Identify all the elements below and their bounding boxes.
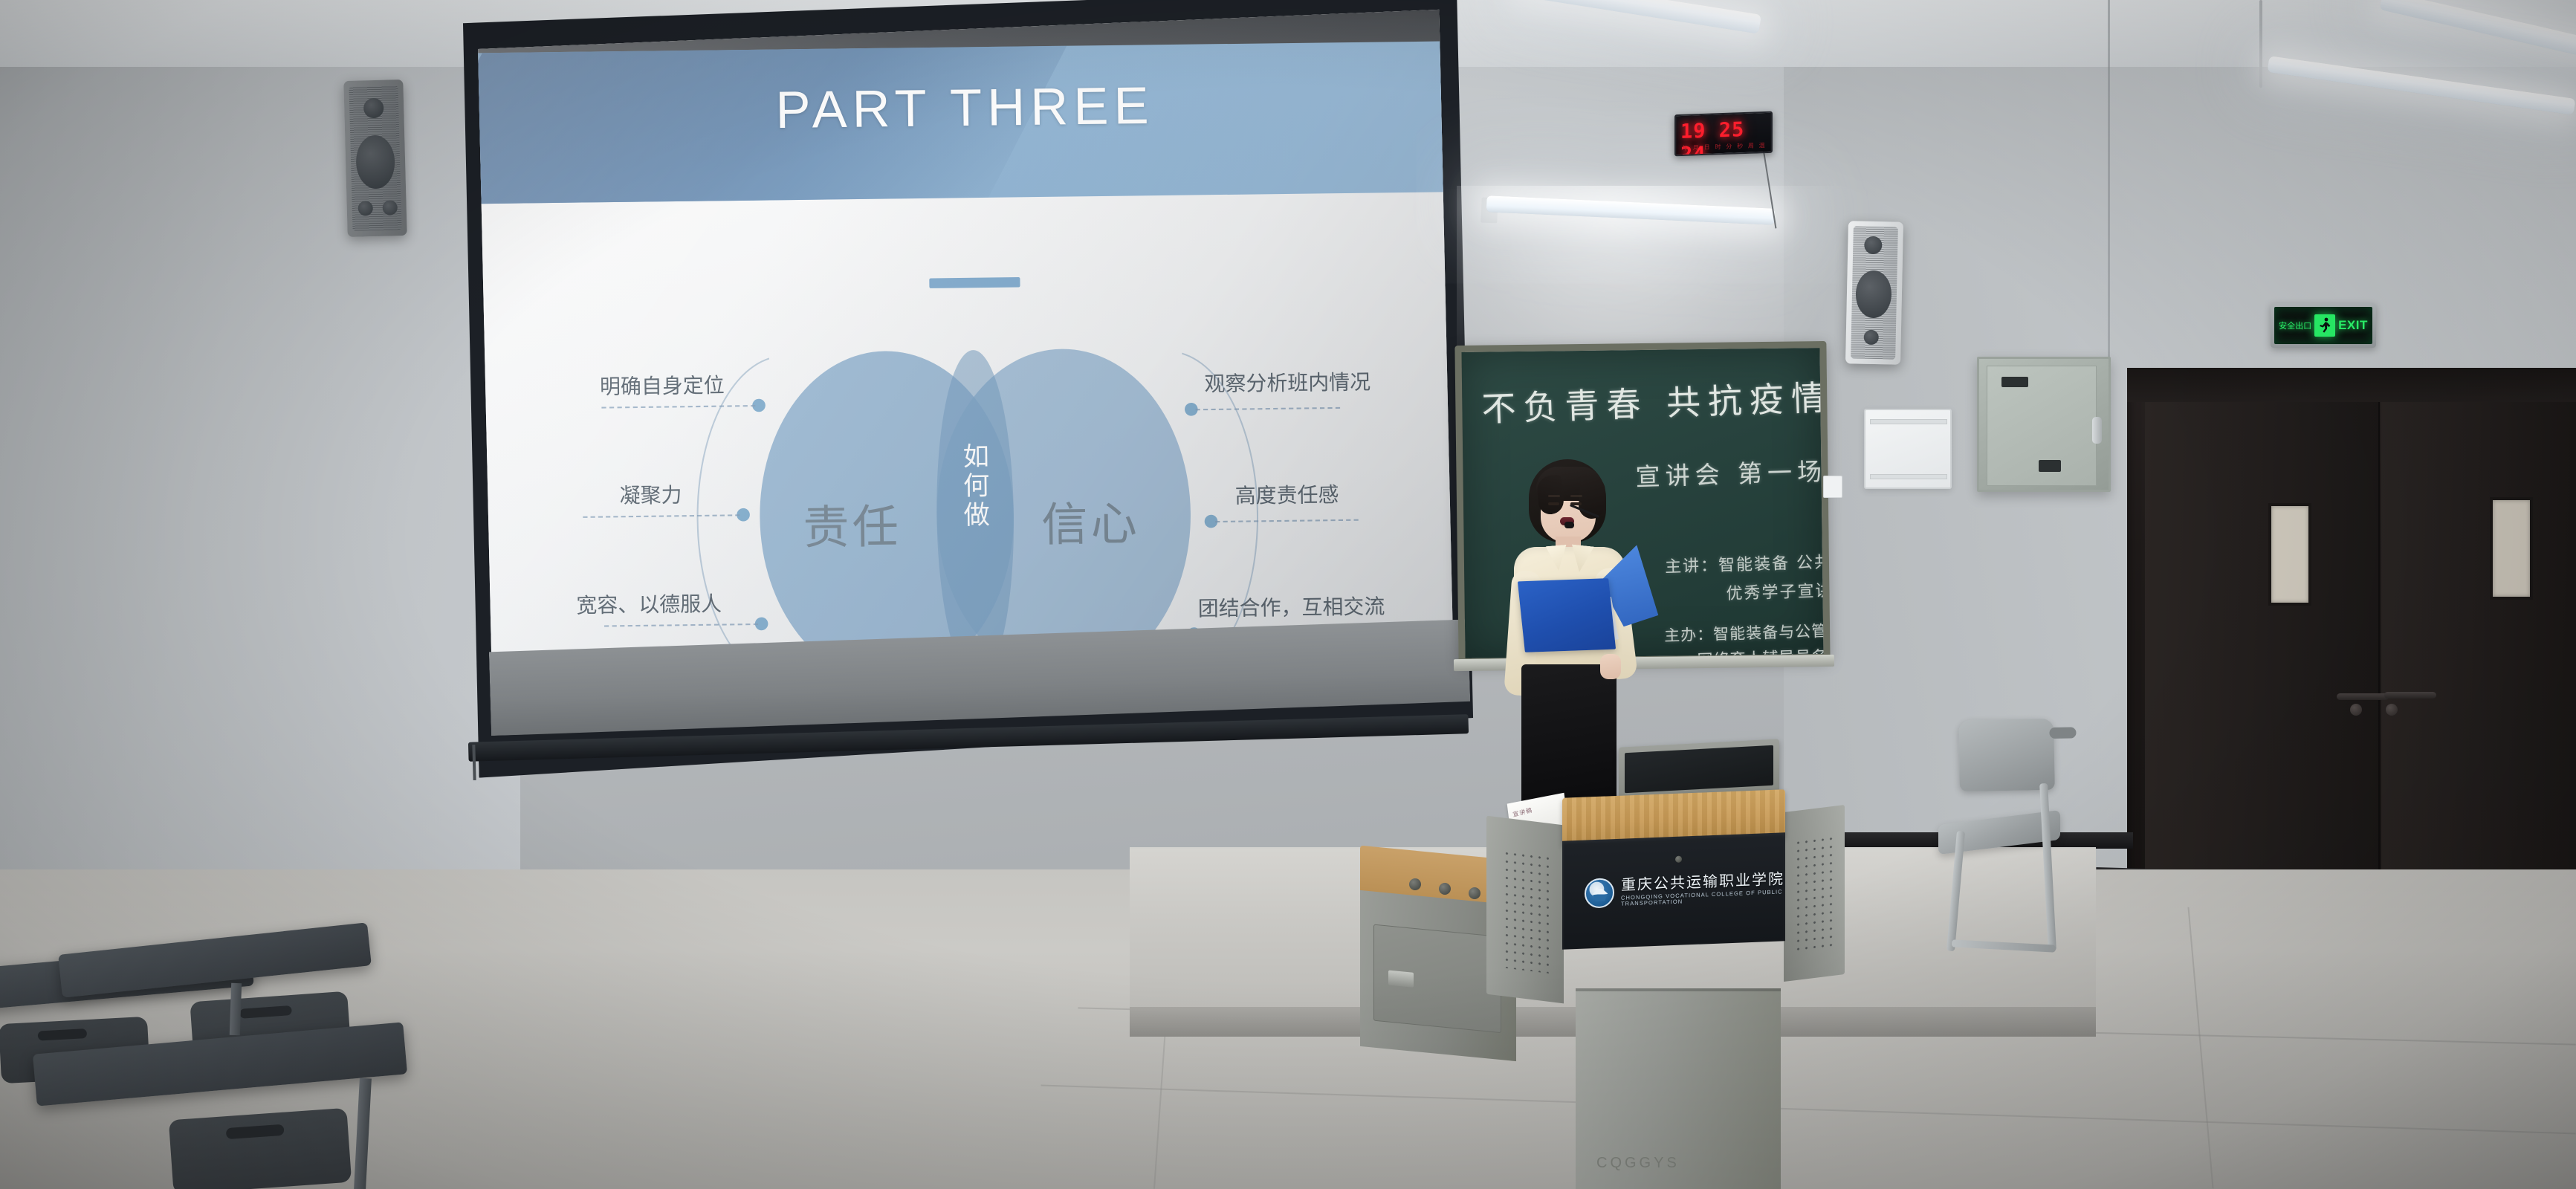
college-seal-icon (1585, 878, 1614, 909)
chair-handle-cutout (2049, 727, 2076, 739)
exit-sign-english: EXIT (2338, 318, 2368, 333)
blue-folder (1518, 578, 1616, 652)
wall-corner-seam (2108, 0, 2110, 386)
callout-label-right-2: 高度责任感 (1234, 478, 1339, 509)
door-lock-right[interactable] (2386, 704, 2398, 716)
podium-card-label: 宣讲稿 (1512, 806, 1533, 819)
door-leaf-right[interactable] (2381, 402, 2576, 888)
podium-left-column (1486, 816, 1564, 1004)
callout-label-left-3: 宽容、以德服人 (576, 587, 722, 619)
podium-knob-1[interactable] (1409, 878, 1421, 890)
door-window-right (2490, 497, 2533, 600)
power-outlet[interactable] (1823, 476, 1842, 498)
classroom-scene: PART THREE 责任 信心 如何做 明确自身定位 (0, 0, 2576, 1189)
podium-knob-3[interactable] (1469, 887, 1480, 899)
student-desk-leg-1 (354, 1078, 372, 1189)
podium-right-column (1784, 805, 1845, 982)
student-desk-leg-2 (230, 983, 242, 1035)
wall-speaker-left (343, 80, 407, 237)
chair-grip-3 (226, 1124, 285, 1139)
door-handle-left[interactable] (2337, 693, 2389, 700)
led-wall-clock: 19 25 24 年 月 日 时 分 秒 周 温度 (1674, 111, 1773, 157)
wall-speaker-right (1845, 221, 1903, 365)
blackboard-organizer-line-1: 主办：智能装备与公管联合学工办 (1664, 617, 1831, 647)
running-man-icon (2314, 314, 2335, 337)
panel-slot-top (1870, 419, 1947, 424)
callout-label-left-2: 凝聚力 (619, 479, 682, 509)
podium-front-panel: 重庆公共运输职业学院 CHONGQING VOCATIONAL COLLEGE … (1562, 832, 1785, 950)
venn-label-left: 责任 (803, 490, 902, 558)
slide-section-title: PART THREE (472, 72, 1465, 144)
chair-leg-rail (1952, 939, 2056, 952)
podium-speaker-grille-left (1503, 849, 1549, 973)
slide-divider-dash (929, 277, 1020, 288)
podium-base-marking: CQGGYS (1596, 1155, 1680, 1172)
podium-card-slot[interactable] (1388, 971, 1414, 988)
presenter-eye-left (1548, 502, 1559, 505)
foreground-student-desks (0, 933, 639, 1189)
exit-sign: 安全出口 EXIT (2271, 303, 2376, 348)
chair-grip-2 (239, 1005, 292, 1019)
spare-chair[interactable] (1925, 719, 2088, 957)
cabinet-vent-bottom (2039, 460, 2061, 472)
door-header (2127, 368, 2576, 402)
presenter-hand (1600, 654, 1621, 679)
callout-label-right-1: 观察分析班内情况 (1204, 365, 1370, 397)
podium-base-seam (1576, 988, 1781, 991)
presenter-brow-right (1570, 495, 1582, 497)
callout-label-right-3: 团结合作，互相交流 (1198, 589, 1385, 621)
blackboard-headline: 不负青春 共抗疫情 (1480, 371, 1830, 432)
venn-label-center: 如何做 (953, 442, 1000, 531)
door-lock-left[interactable] (2350, 704, 2362, 716)
podium-brand-text: 重庆公共运输职业学院 CHONGQING VOCATIONAL COLLEGE … (1621, 871, 1785, 907)
callout-label-left-1: 明确自身定位 (600, 369, 725, 400)
blackboard-subhead: 宣讲会 第一场 (1635, 452, 1828, 493)
student-chair-back-3[interactable] (169, 1108, 352, 1189)
blackboard-speaker-line-2: 优秀学子宣讲团 (1726, 577, 1831, 604)
cabinet-handle[interactable] (2092, 417, 2102, 444)
chair-leg-back (2039, 783, 2056, 951)
podium-base: CQGGYS (1576, 988, 1781, 1189)
wall-control-panel (1864, 409, 1952, 489)
electrical-cabinet[interactable] (1977, 357, 2111, 492)
blackboard-speaker-line-1: 主讲：智能装备 公共管理 (1665, 548, 1831, 577)
podium-front-screw (1675, 856, 1682, 863)
podium-monitor-screen (1625, 745, 1773, 793)
classroom-double-door[interactable] (2127, 368, 2576, 888)
projection-screen: PART THREE 责任 信心 如何做 明确自身定位 (458, 0, 1482, 780)
lectern-podium[interactable]: 宣讲稿 重庆公共运输职业学院 CHONGQING VOCATIONAL COLL… (1360, 765, 1880, 1189)
ceiling-tube-mount (2259, 0, 2262, 88)
venn-label-right: 信心 (1041, 487, 1141, 555)
podium-branding: 重庆公共运输职业学院 CHONGQING VOCATIONAL COLLEGE … (1585, 871, 1785, 908)
panel-slot-bottom (1870, 474, 1947, 479)
cabinet-vent-top (2001, 377, 2028, 387)
presenter-brow-left (1548, 495, 1560, 497)
door-handle-right[interactable] (2384, 692, 2436, 699)
exit-sign-chinese: 安全出口 (2279, 320, 2311, 331)
door-leaf-left[interactable] (2145, 402, 2380, 888)
chair-grip-1 (38, 1028, 88, 1040)
chair-backrest (1958, 719, 2055, 791)
exit-sign-face: 安全出口 EXIT (2274, 307, 2372, 344)
podium-knob-2[interactable] (1439, 883, 1451, 895)
door-window-left (2268, 503, 2311, 606)
headset-microphone-icon (1564, 522, 1574, 528)
podium-speaker-grille-right (1794, 834, 1836, 955)
